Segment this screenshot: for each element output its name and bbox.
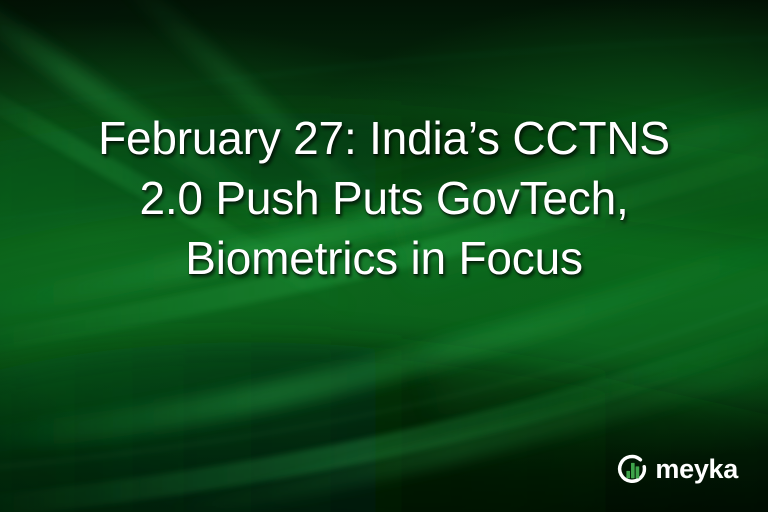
brand-name: meyka [655, 456, 738, 483]
headline-container: February 27: India’s CCTNS 2.0 Push Puts… [0, 108, 768, 288]
meyka-circle-bars-icon [616, 453, 649, 486]
brand-logo[interactable]: meyka [616, 453, 738, 486]
page-title: February 27: India’s CCTNS 2.0 Push Puts… [36, 108, 732, 288]
news-card: February 27: India’s CCTNS 2.0 Push Puts… [0, 0, 768, 512]
